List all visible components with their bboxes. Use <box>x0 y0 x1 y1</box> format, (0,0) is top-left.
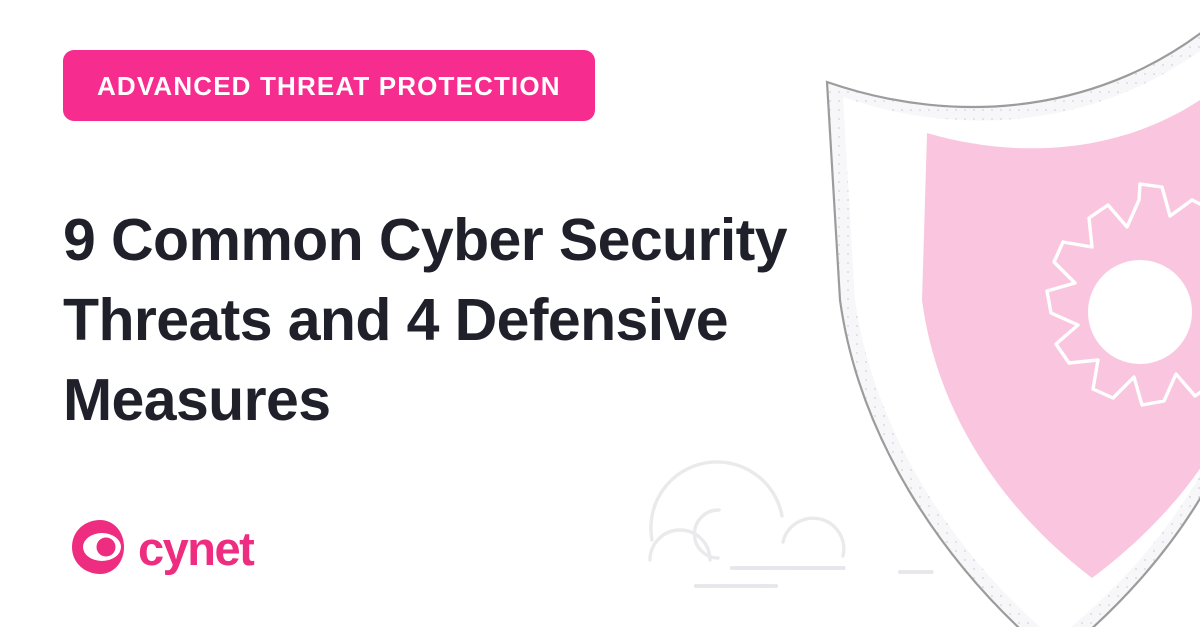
banner-canvas: ADVANCED THREAT PROTECTION 9 Common Cybe… <box>0 0 1200 627</box>
page-title: 9 Common Cyber Security Threats and 4 De… <box>63 200 903 440</box>
headline-line-1: 9 Common Cyber Security <box>63 200 903 280</box>
cynet-wordmark: cynet <box>138 525 253 572</box>
gear-icon <box>1047 184 1200 405</box>
headline-line-3: Measures <box>63 360 903 440</box>
cynet-eye-mark-icon <box>68 518 126 576</box>
cynet-logo[interactable]: cynet <box>68 518 253 576</box>
dotted-lines <box>696 568 932 586</box>
eyebrow-badge-label: ADVANCED THREAT PROTECTION <box>97 73 561 99</box>
eyebrow-badge: ADVANCED THREAT PROTECTION <box>63 50 595 121</box>
shield-inner-fill <box>922 84 1200 578</box>
cloud-icon <box>650 462 844 560</box>
headline-line-2: Threats and 4 Defensive <box>63 280 903 360</box>
